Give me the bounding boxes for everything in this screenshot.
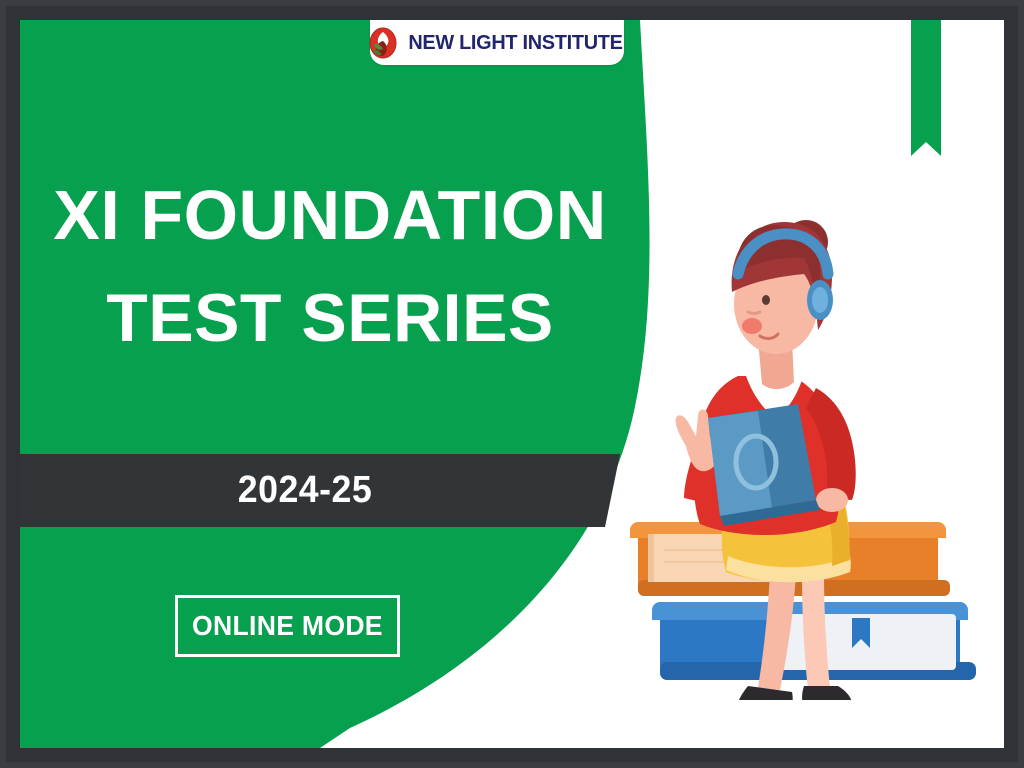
poster-canvas: XI FOUNDATION TEST SERIES 2024-25 ONLINE…	[20, 20, 1004, 748]
character-head	[732, 220, 833, 354]
logo-text: NEW LIGHT INSTITUTE	[408, 31, 622, 55]
illustration-woman-with-laptop	[620, 200, 1004, 700]
new-light-institute-emblem-icon	[368, 27, 398, 59]
year-banner-text: 2024-25	[37, 454, 573, 527]
year-banner: 2024-25	[20, 454, 626, 527]
online-mode-label: ONLINE MODE	[192, 610, 383, 642]
poster-frame: XI FOUNDATION TEST SERIES 2024-25 ONLINE…	[0, 0, 1024, 768]
bookmark-ribbon-icon	[911, 20, 941, 156]
logo-pill: NEW LIGHT INSTITUTE	[370, 20, 624, 65]
online-mode-badge: ONLINE MODE	[175, 595, 400, 657]
character-right-hand	[816, 488, 848, 512]
